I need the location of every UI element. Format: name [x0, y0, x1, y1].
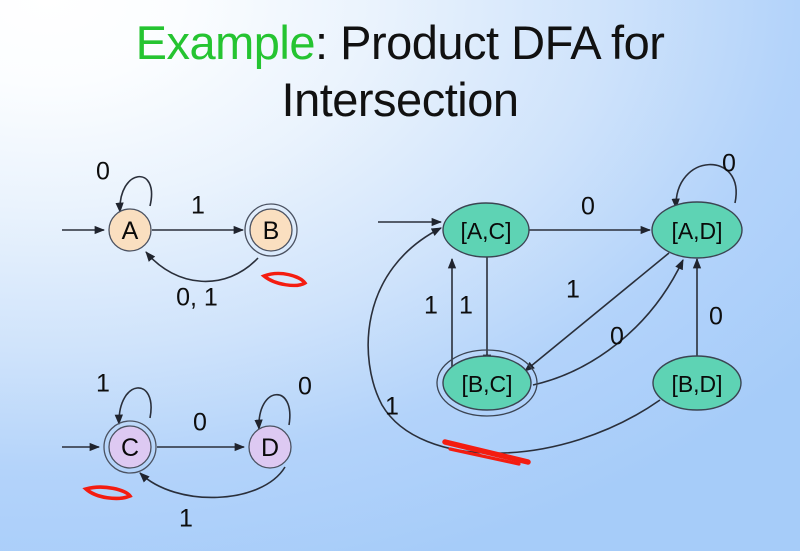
state-D-label: D	[261, 434, 279, 462]
dfa-b-edge-label-D-C: 1	[179, 505, 193, 533]
product-edge-label-BD-AC: 1	[385, 393, 399, 421]
state-AD-label: [A,D]	[671, 218, 722, 244]
dfa-b-edge-C-C	[119, 388, 151, 424]
dfa-a-edge-B-A	[146, 252, 258, 281]
state-BD-label: [B,D]	[671, 371, 722, 397]
state-BC-label: [B,C]	[461, 371, 512, 397]
dfa-b-edge-label-C-D: 0	[193, 409, 207, 437]
product-edge-label-BC-AD: 0	[610, 323, 624, 351]
dfa-b-edge-D-C	[140, 467, 285, 497]
product-edge-label-AD-AD: 0	[722, 150, 736, 178]
dfa-b-group: 1 0 0 1 C D	[62, 370, 312, 533]
annotation-mark-near-b	[264, 274, 305, 286]
product-edge-label-AD-BC: 1	[566, 276, 580, 304]
dfa-diagram-svg: 0 1 0, 1 A B 1 0 0	[0, 0, 800, 551]
state-B-label: B	[263, 217, 280, 245]
state-A-label: A	[122, 217, 139, 245]
product-edge-label-BC-AC: 1	[424, 292, 438, 320]
product-edge-AD-BC	[525, 253, 669, 371]
dfa-a-group: 0 1 0, 1 A B	[62, 158, 297, 312]
product-edge-label-AC-AD: 0	[581, 193, 595, 221]
dfa-a-edge-label-B-A: 0, 1	[176, 284, 218, 312]
product-edge-BC-AD	[533, 260, 683, 385]
dfa-b-edge-label-C-C: 1	[96, 370, 110, 398]
product-edge-label-BD-AD: 0	[709, 303, 723, 331]
dfa-b-edge-label-D-D: 0	[298, 373, 312, 401]
dfa-a-edge-label-A-A: 0	[96, 158, 110, 186]
dfa-b-edge-D-D	[259, 395, 290, 429]
slide-canvas: Example: Product DFA for Intersection 0 …	[0, 0, 800, 551]
product-dfa-group: 0 0 1 1 1 0 0 1 [A,C]	[368, 150, 742, 454]
annotation-mark-near-c	[86, 487, 130, 498]
state-C-label: C	[121, 434, 139, 462]
dfa-a-edge-label-A-B: 1	[191, 192, 205, 220]
state-AC-label: [A,C]	[460, 218, 511, 244]
dfa-a-edge-A-A	[120, 177, 152, 212]
product-edge-label-AC-BC: 1	[459, 292, 473, 320]
